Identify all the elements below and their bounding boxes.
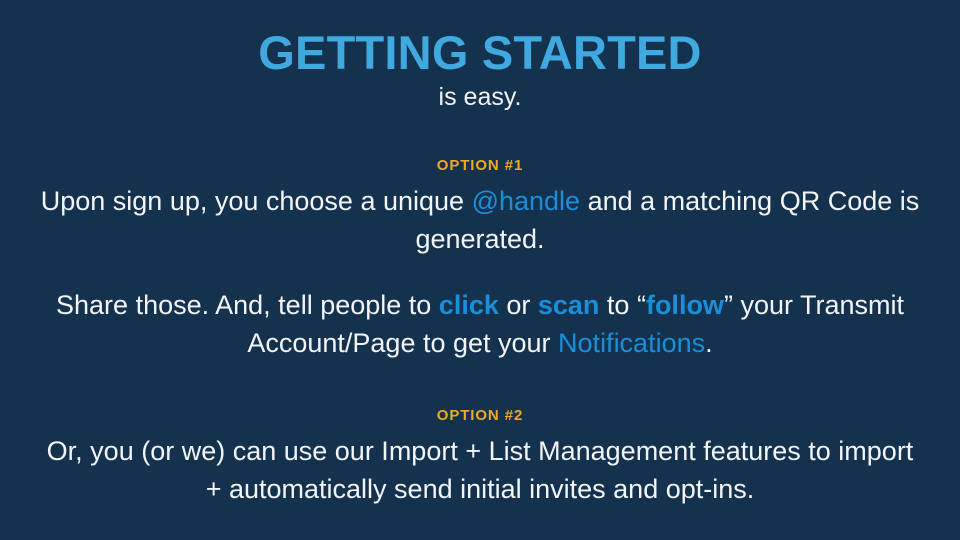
option-1-p2-text-end: . [705,328,713,358]
option-1-label: OPTION #1 [40,156,920,176]
slide-canvas: GETTING STARTED is easy. OPTION #1 Upon … [0,0,960,540]
option-1-paragraph-2: Share those. And, tell people to click o… [40,280,920,362]
option-1-p2-text-before-follow: to [599,290,637,320]
page-subtitle: is easy. [0,80,960,112]
option-1-p2-text-between-click-scan: or [499,290,538,320]
option-2-section: OPTION #2 Or, you (or we) can use our Im… [40,362,920,508]
option-2-paragraph-1: Or, you (or we) can use our Import + Lis… [40,426,920,508]
follow-accent: follow [646,290,724,320]
option-1-paragraph-1: Upon sign up, you choose a unique @handl… [40,176,920,258]
scan-accent: scan [538,290,600,320]
option-1-p1-text-before-handle: Upon sign up, you choose a unique [41,186,472,216]
notifications-accent: Notifications [558,328,705,358]
close-quote-mark: ” [724,290,733,320]
handle-accent: @handle [472,186,581,216]
option-2-label: OPTION #2 [40,406,920,426]
heading-block: GETTING STARTED is easy. [0,0,960,112]
paragraph-spacer [40,258,920,280]
option-1-section: OPTION #1 Upon sign up, you choose a uni… [40,112,920,362]
click-accent: click [439,290,499,320]
option-1-p2-text-before-click: Share those. And, tell people to [56,290,439,320]
open-quote-mark: “ [637,290,646,320]
page-title: GETTING STARTED [0,26,960,80]
